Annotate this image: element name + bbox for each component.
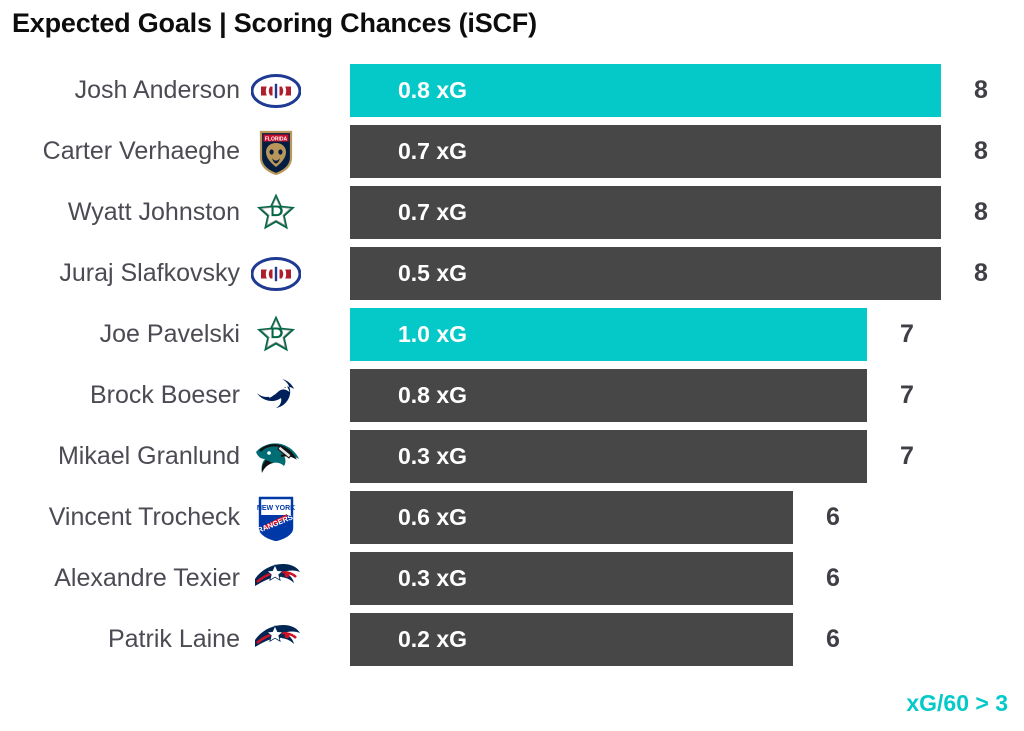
bar-value-label: 0.3 xG [398,552,467,605]
xg-bar: 0.5 xG [350,247,941,300]
xg-bar: 0.7 xG [350,125,941,178]
chart-footnote: xG/60 > 3 [906,690,1008,717]
iscf-count: 7 [881,369,933,422]
iscf-count: 7 [881,308,933,361]
player-row: Alexandre Texier0.3 xG6 [0,552,1024,605]
dallas-stars-logo [250,310,302,360]
player-row: Joe Pavelski1.0 xG7 [0,308,1024,361]
player-name: Juraj Slafkovsky [59,247,240,300]
player-row: Juraj Slafkovsky0.5 xG8 [0,247,1024,300]
page-title: Expected Goals | Scoring Chances (iSCF) [12,8,537,39]
svg-text:NEW YORK: NEW YORK [257,505,295,512]
player-name: Joe Pavelski [100,308,240,361]
player-row: Wyatt Johnston0.7 xG8 [0,186,1024,239]
player-name: Brock Boeser [90,369,240,422]
iscf-count: 6 [807,552,859,605]
bar-value-label: 0.7 xG [398,125,467,178]
xg-bar: 1.0 xG [350,308,867,361]
florida-panthers-logo: FLORIDA [250,127,302,177]
iscf-count: 8 [955,186,1007,239]
iscf-count: 8 [955,125,1007,178]
san-jose-sharks-logo [250,432,302,482]
bar-value-label: 0.7 xG [398,186,467,239]
xg-bar: 0.8 xG [350,64,941,117]
player-name: Wyatt Johnston [68,186,240,239]
bar-value-label: 0.3 xG [398,430,467,483]
iscf-count: 6 [807,613,859,666]
dallas-stars-logo [250,188,302,238]
player-name: Mikael Granlund [58,430,240,483]
bar-value-label: 0.8 xG [398,369,467,422]
xg-bar: 0.8 xG [350,369,867,422]
xg-bar: 0.7 xG [350,186,941,239]
iscf-count: 7 [881,430,933,483]
bar-value-label: 0.5 xG [398,247,467,300]
player-row: Patrik Laine0.2 xG6 [0,613,1024,666]
xg-bar: 0.3 xG [350,430,867,483]
player-name: Josh Anderson [75,64,240,117]
player-name: Patrik Laine [108,613,240,666]
expected-goals-chart: Expected Goals | Scoring Chances (iSCF) … [0,0,1024,731]
iscf-count: 6 [807,491,859,544]
bar-value-label: 0.8 xG [398,64,467,117]
svg-text:FLORIDA: FLORIDA [265,136,288,142]
bar-value-label: 0.6 xG [398,491,467,544]
player-rows-list: Josh Anderson0.8 xG8Carter VerhaegheFLOR… [0,64,1024,674]
iscf-count: 8 [955,247,1007,300]
player-name: Carter Verhaeghe [43,125,240,178]
columbus-blue-jackets-logo [250,615,302,665]
new-york-rangers-logo: NEW YORKRANGERS [250,493,302,543]
bar-value-label: 1.0 xG [398,308,467,361]
bar-value-label: 0.2 xG [398,613,467,666]
player-name: Vincent Trocheck [49,491,240,544]
montreal-canadiens-logo [250,66,302,116]
player-row: Mikael Granlund0.3 xG7 [0,430,1024,483]
xg-bar: 0.3 xG [350,552,793,605]
player-row: Josh Anderson0.8 xG8 [0,64,1024,117]
player-row: Brock Boeser0.8 xG7 [0,369,1024,422]
columbus-blue-jackets-logo [250,554,302,604]
player-name: Alexandre Texier [54,552,240,605]
iscf-count: 8 [955,64,1007,117]
player-row: Carter VerhaegheFLORIDA0.7 xG8 [0,125,1024,178]
xg-bar: 0.6 xG [350,491,793,544]
xg-bar: 0.2 xG [350,613,793,666]
vancouver-canucks-logo [250,371,302,421]
player-row: Vincent TrocheckNEW YORKRANGERS0.6 xG6 [0,491,1024,544]
montreal-canadiens-logo [250,249,302,299]
